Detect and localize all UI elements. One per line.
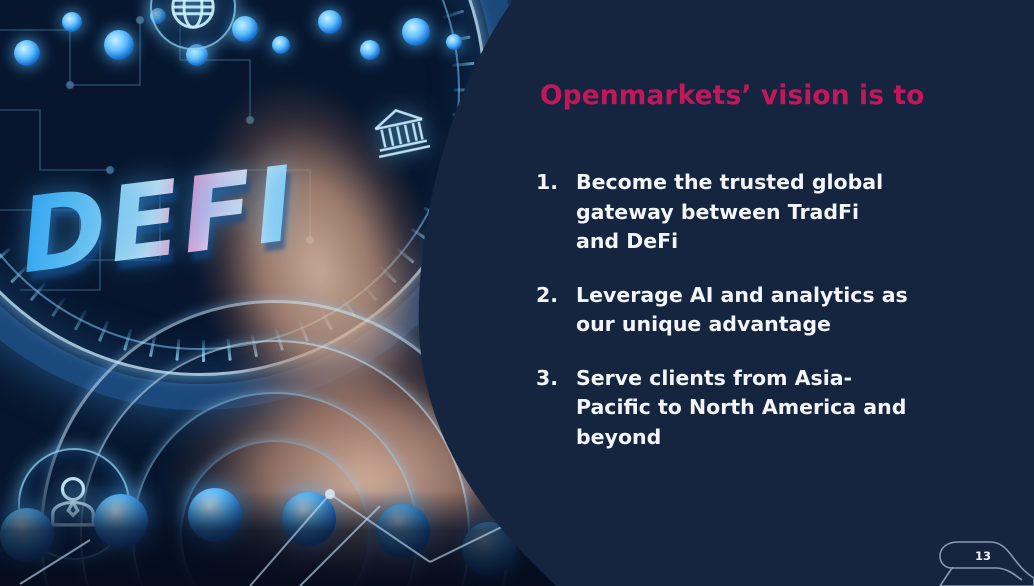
list-item-text: Serve clients from Asia-Pacific to North… [576, 364, 908, 453]
page-number-label: 13 [968, 549, 998, 563]
list-item: 1.Become the trusted global gateway betw… [536, 168, 956, 257]
page-number-badge: 13 [914, 516, 1034, 586]
list-item: 2.Leverage AI and analytics as our uniqu… [536, 281, 956, 340]
list-item: 3.Serve clients from Asia-Pacific to Nor… [536, 364, 956, 453]
list-item-number: 1. [536, 168, 576, 257]
list-item-text: Leverage AI and analytics as our unique … [576, 281, 908, 340]
content-area: Openmarkets’ vision is to 1.Become the t… [536, 0, 1006, 586]
globe-icon [166, 0, 220, 34]
vision-list: 1.Become the trusted global gateway betw… [536, 168, 956, 476]
list-item-text: Become the trusted global gateway betwee… [576, 168, 908, 257]
hero-image: DEFI DEFI [0, 0, 620, 586]
photo-band-lines [0, 466, 620, 586]
list-item-number: 2. [536, 281, 576, 340]
page-title: Openmarkets’ vision is to [540, 80, 960, 111]
slide: DEFI DEFI [0, 0, 1034, 586]
defi-wordmark: DEFI [15, 151, 299, 290]
list-item-number: 3. [536, 364, 576, 453]
